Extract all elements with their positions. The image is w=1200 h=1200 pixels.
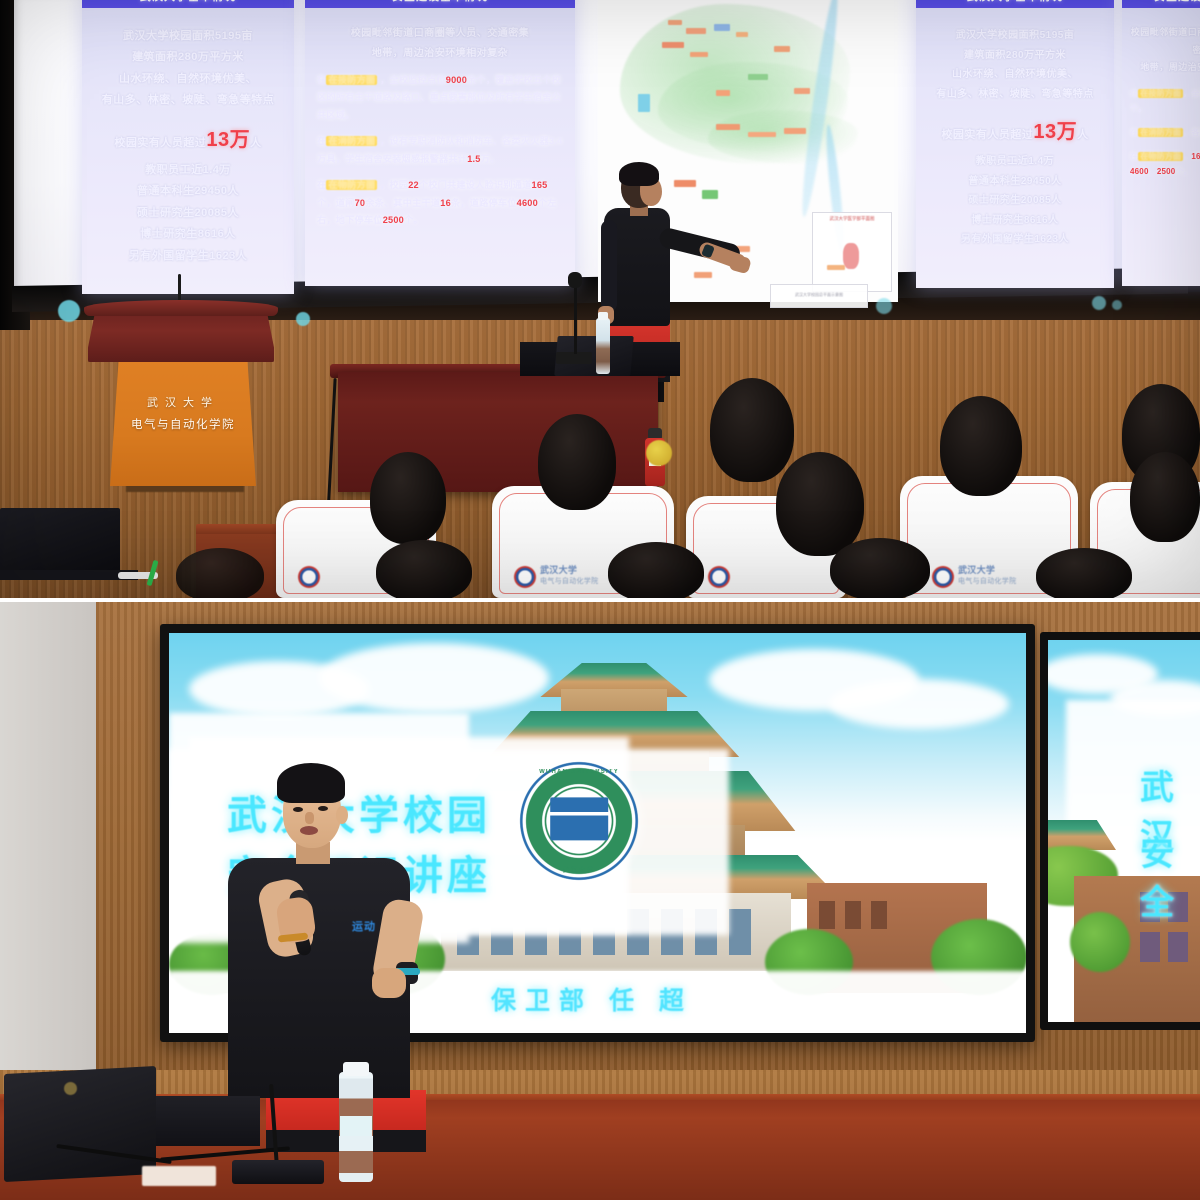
slide-highlight-line: 校园实有人员超过13万人 — [924, 113, 1106, 152]
slide-title-line1: 武汉大学校园 — [227, 783, 491, 841]
slide-decoration-dot — [1092, 296, 1106, 310]
slide-block-physical: 在在物防方面，165个，70余条，4600，2500个。 — [1130, 149, 1200, 179]
desk-paper — [142, 1166, 216, 1186]
seat-cover-university: 武汉大学 — [958, 563, 1016, 576]
podium-school-name: 电气与自动化学院 — [110, 416, 256, 432]
slide-line: 山水环绕、自然环境优美、 — [90, 69, 286, 90]
slide-tag-tech: 在技防方面 — [326, 75, 377, 85]
slide-tag-physical: 在物防方面 — [326, 180, 377, 190]
seat-cover-text: 武汉大学 电气与自动化学院 — [540, 563, 598, 586]
slide-tag-fire: 在消防方面 — [326, 136, 377, 146]
slide-safety-build-secondary-header: 安全建设基本情况 — [1122, 0, 1200, 8]
slide-highlight-line: 校园实有人员超过13万人 — [90, 121, 286, 160]
map-inset: 武汉大学医学部平面图 — [812, 212, 892, 292]
microphone-base — [232, 1160, 324, 1184]
slide-stat: 普通本科生29450人 — [90, 181, 286, 202]
highlight-number: 13万 — [1033, 121, 1077, 143]
slide-stat: 博士研究生8616人 — [924, 211, 1106, 231]
slide-decoration-dot — [58, 300, 80, 322]
slide-safety-build-header: 安全建设基本情况 — [305, 0, 575, 8]
slide-decoration-dot — [296, 312, 310, 326]
laptop-brand-logo-icon — [64, 1082, 77, 1095]
slide-tag-fire: 在消防方面 — [1138, 128, 1183, 137]
audience-head — [710, 378, 794, 482]
slide-basic-info-secondary-header: 武汉大学基本情况 — [916, 0, 1114, 8]
slide-basic-info-secondary-body: 武汉大学校园面积5195亩 建筑面积280万平方米 山水环绕、自然环境优美、 有… — [916, 20, 1114, 256]
slide-safety-build-title: 安全建设基本情况 — [305, 0, 575, 8]
mascot-plush — [646, 440, 672, 466]
audience-head — [776, 452, 864, 556]
audience-head — [176, 548, 264, 598]
slide-basic-info-body: 武汉大学校园面积5195亩 建筑面积280万平方米 山水环绕、自然环境优美、 有… — [82, 20, 294, 273]
audience-head — [370, 452, 446, 544]
top-photograph: 武汉大学基本情况 武汉大学校园面积5195亩 建筑面积280万平方米 山水环绕、… — [0, 0, 1200, 598]
slide-stat: 教职员工近1.4万 — [924, 152, 1106, 172]
audience-head — [1036, 548, 1132, 598]
slide-safety-build-secondary-title: 安全建设基本情况 — [1122, 0, 1200, 8]
slide-basic-info-secondary-title: 武汉大学基本情况 — [916, 0, 1114, 8]
seat-cover-university: 武汉大学 — [540, 563, 598, 576]
slide-stat: 博士研究生8616人 — [90, 224, 286, 245]
water-bottle-cap — [343, 1062, 369, 1076]
slide-line: 建筑面积280万平方米 — [924, 46, 1106, 66]
desk-microphone — [568, 272, 582, 288]
water-bottle-label — [340, 1116, 372, 1136]
slide-tag-physical: 在物防方面 — [1138, 152, 1183, 161]
secondary-display-slide: 武汉 安全 — [1048, 640, 1200, 1022]
audience-head — [608, 542, 704, 598]
audience-head — [376, 540, 472, 598]
audience-head — [940, 396, 1022, 496]
slide-footer-presenter: 保卫部 任 超 — [491, 981, 693, 1017]
map-inset-caption: 武汉大学医学部平面图 — [813, 216, 891, 222]
slide-line: 有山多、林密、坡陡、弯急等特点 — [924, 85, 1106, 105]
slide-decoration-dot — [876, 298, 892, 314]
slide-basic-info-header: 武汉大学基本情况 — [82, 0, 294, 8]
highlight-suffix: 人 — [250, 137, 262, 149]
seat-cover-school: 电气与自动化学院 — [958, 578, 1016, 585]
slide-block-tech: 在在技防方面，全校监控点位9000余个。 — [1130, 86, 1200, 116]
seat-cover-text: 武汉大学 电气与自动化学院 — [958, 563, 1016, 586]
map-footer-caption: 武汉大学校园总平面示意图 — [771, 292, 867, 298]
speaker-hair — [277, 763, 345, 803]
slide-block-fire: 在在消防方面，各类灭火器3.4万具。 — [1130, 125, 1200, 140]
slide-line: 武汉大学校园面积5195亩 — [924, 26, 1106, 46]
slide-safety-build-body: 校园毗邻街道口商圈等人员、交通密集 地带，周边治安环境相对复杂 在在技防方面 ，… — [305, 24, 575, 230]
secondary-slide-title-line2: 安全 — [1140, 826, 1200, 924]
audience-head — [1130, 452, 1200, 542]
slide-block-fire: 在在消防方面 ，设有专职消防队和消防车、各类灭火器3.4万具，学生宿舍安装烟感报… — [317, 133, 563, 168]
slide-intro-line: 地带，周边治安环境相对复杂 — [1130, 59, 1200, 77]
slide-decoration-dot — [1112, 300, 1122, 310]
slide-stat: 硕士研究生20085人 — [90, 203, 286, 224]
emblem-text-top: WUHAN UNIVERSITY — [519, 769, 639, 775]
seat-university-logo-icon — [708, 566, 730, 588]
desk-laptop — [4, 1066, 156, 1182]
slide-block-physical: 在在物防方面 ，校园22个校门共建设人脸识别通道165个，道闸70余条、其中主干… — [317, 177, 563, 229]
wuhan-university-emblem-icon: WUHAN UNIVERSITY 武汉大学 — [519, 761, 639, 881]
slide-intro-line: 校园毗邻街道口商圈等人员、交通密集 — [1130, 24, 1200, 59]
slide-safety-build-secondary-display: 安全建设基本情况 校园毗邻街道口商圈等人员、交通密集 地带，周边治安环境相对复杂… — [1122, 0, 1200, 286]
slide-basic-info-secondary-display: 武汉大学基本情况 武汉大学校园面积5195亩 建筑面积280万平方米 山水环绕、… — [916, 0, 1114, 288]
shirt-brand-logo: 运动 — [352, 918, 376, 934]
slide-line: 山水环绕、自然环境优美、 — [924, 65, 1106, 85]
slide-intro-line: 校园毗邻街道口商圈等人员、交通密集 — [317, 24, 563, 44]
audience-head — [538, 414, 616, 510]
speaker-hair — [619, 162, 659, 186]
slide-safety-build-secondary-body: 校园毗邻街道口商圈等人员、交通密集 地带，周边治安环境相对复杂 在在技防方面，全… — [1122, 24, 1200, 180]
audience-head — [830, 538, 930, 598]
seat-university-logo-icon — [298, 566, 320, 588]
desk-monitor — [150, 1096, 260, 1146]
podium-front-panel: 武汉大学 电气与自动化学院 — [110, 358, 256, 486]
slide-line: 有山多、林密、坡陡、弯急等特点 — [90, 90, 286, 111]
slide-tag-tech: 在技防方面 — [1138, 89, 1183, 98]
seat-university-logo-icon — [514, 566, 536, 588]
photo-collage: 武汉大学基本情况 武汉大学校园面积5195亩 建筑面积280万平方米 山水环绕、… — [0, 0, 1200, 1200]
slide-line: 武汉大学校园面积5195亩 — [90, 26, 286, 47]
map-footer-caption-box: 武汉大学校园总平面示意图 — [770, 284, 868, 308]
slide-stat: 普通本科生29450人 — [924, 172, 1106, 192]
slide-line: 建筑面积280万平方米 — [90, 47, 286, 68]
slide-intro-line: 地带，周边治安环境相对复杂 — [317, 44, 563, 64]
secondary-display-screen: 武汉 安全 — [1040, 632, 1200, 1030]
seat-university-logo-icon — [932, 566, 954, 588]
slide-basic-info: 武汉大学基本情况 武汉大学校园面积5195亩 建筑面积280万平方米 山水环绕、… — [82, 0, 294, 294]
laptop-secondary — [0, 508, 120, 574]
slide-stat: 硕士研究生20085人 — [924, 191, 1106, 211]
slide-stat: 另有外国留学生1623人 — [90, 246, 286, 267]
tree-icon — [1070, 912, 1130, 972]
podium-university-name: 武汉大学 — [110, 394, 256, 410]
highlight-number: 13万 — [206, 129, 250, 151]
highlight-suffix: 人 — [1077, 129, 1089, 141]
slide-stat: 教职员工近1.4万 — [90, 160, 286, 181]
water-bottle — [596, 318, 610, 374]
highlight-prefix: 校园实有人员超过 — [941, 129, 1033, 141]
slide-basic-info-title: 武汉大学基本情况 — [82, 0, 294, 8]
slide-block-tech: 在在技防方面 ，全校监控点位9000余个，覆盖学校五个校区的所有主干道路及路口、… — [317, 72, 563, 124]
emblem-pagoda-icon — [550, 797, 608, 840]
slide-safety-build: 安全建设基本情况 校园毗邻街道口商圈等人员、交通密集 地带，周边治安环境相对复杂… — [305, 0, 575, 286]
highlight-prefix: 校园实有人员超过 — [114, 137, 206, 149]
seat-cover-school: 电气与自动化学院 — [540, 578, 598, 585]
slide-stat: 另有外国留学生1623人 — [924, 230, 1106, 250]
emblem-text-bottom: 武汉大学 — [519, 865, 639, 874]
